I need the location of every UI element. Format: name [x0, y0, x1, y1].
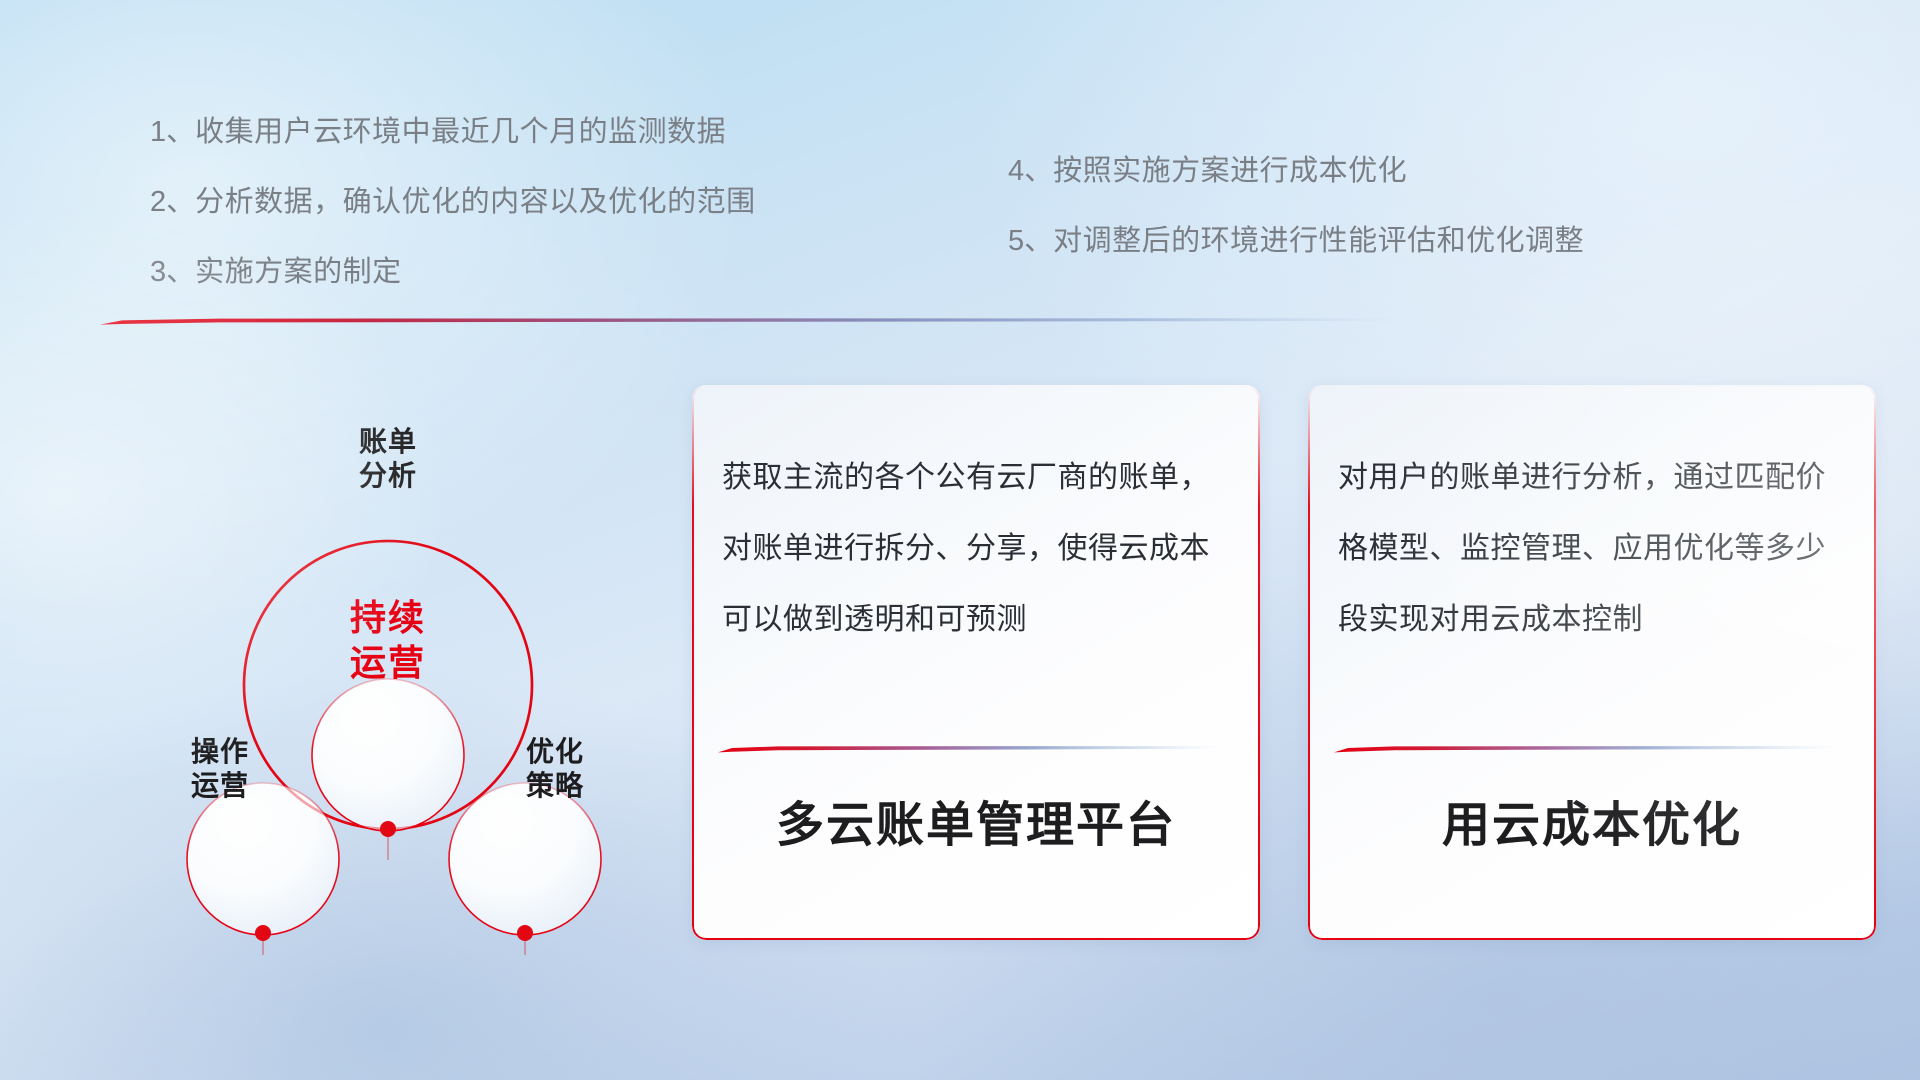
cycle-center-line1: 持续: [300, 595, 476, 640]
feature-card-cloud-cost-optimization[interactable]: 对用户的账单进行分析，通过匹配价格模型、监控管理、应用优化等多少段实现对用云成本…: [1308, 385, 1876, 940]
step-text: 按照实施方案进行成本优化: [1053, 155, 1407, 187]
step-number: 1、: [150, 116, 195, 148]
node-bubble-bottom-right: [449, 783, 601, 935]
cycle-center-line2: 运营: [300, 640, 476, 685]
step-item: 3、实施方案的制定: [150, 258, 756, 287]
steps-left-column: 1、收集用户云环境中最近几个月的监测数据 2、分析数据，确认优化的内容以及优化的…: [150, 118, 756, 287]
card-description: 获取主流的各个公有云厂商的账单，对账单进行拆分、分享，使得云成本可以做到透明和可…: [722, 443, 1232, 655]
step-number: 2、: [150, 186, 195, 218]
card-divider-rule: [718, 740, 1223, 749]
header-divider-rule: [100, 312, 1400, 321]
cycle-diagram: 持续 运营 账单 分析 操作 运营 优化 策略: [100, 355, 660, 955]
step-item: 2、分析数据，确认优化的内容以及优化的范围: [150, 188, 756, 217]
step-text: 收集用户云环境中最近几个月的监测数据: [195, 116, 726, 148]
node-bubble-bottom-left: [187, 783, 339, 935]
cycle-center-label: 持续 运营: [300, 595, 476, 685]
step-text: 对调整后的环境进行性能评估和优化调整: [1053, 225, 1584, 257]
card-divider-rule: [1334, 740, 1839, 749]
step-number: 3、: [150, 256, 195, 288]
slide-canvas: 1、收集用户云环境中最近几个月的监测数据 2、分析数据，确认优化的内容以及优化的…: [0, 0, 1920, 1080]
step-text: 实施方案的制定: [195, 256, 402, 288]
step-text: 分析数据，确认优化的内容以及优化的范围: [195, 186, 756, 218]
step-item: 4、按照实施方案进行成本优化: [1008, 157, 1584, 186]
step-item: 1、收集用户云环境中最近几个月的监测数据: [150, 118, 756, 147]
card-title: 多云账单管理平台: [692, 785, 1260, 855]
step-item: 5、对调整后的环境进行性能评估和优化调整: [1008, 227, 1584, 256]
connector-dot-top: [380, 821, 396, 837]
node-bubble-top: [312, 679, 464, 831]
step-number: 4、: [1008, 155, 1053, 187]
card-description: 对用户的账单进行分析，通过匹配价格模型、监控管理、应用优化等多少段实现对用云成本…: [1338, 443, 1848, 655]
steps-right-column: 4、按照实施方案进行成本优化 5、对调整后的环境进行性能评估和优化调整: [1008, 157, 1584, 256]
card-title: 用云成本优化: [1308, 785, 1876, 855]
connector-dot-bottom-right: [517, 925, 533, 941]
step-number: 5、: [1008, 225, 1053, 257]
feature-card-multi-cloud-billing[interactable]: 获取主流的各个公有云厂商的账单，对账单进行拆分、分享，使得云成本可以做到透明和可…: [692, 385, 1260, 940]
connector-dot-bottom-left: [255, 925, 271, 941]
